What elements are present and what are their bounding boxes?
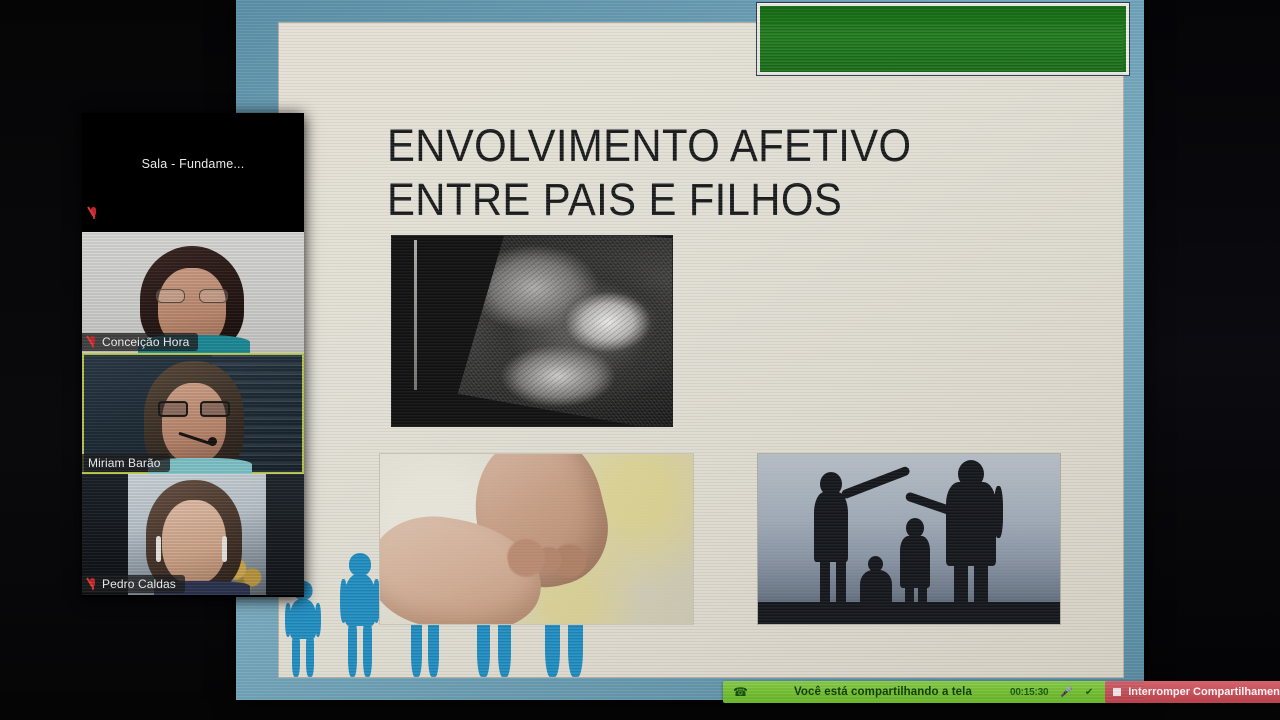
stop-sharing-label: Interromper Compartilhamento — [1128, 686, 1280, 698]
participant-tile-conceicao-hora[interactable]: Conceição Hora — [82, 232, 304, 353]
meeting-room-title: Sala - Fundame... — [82, 157, 304, 171]
holding-hands-photo — [379, 453, 694, 625]
share-timer: 00:15:30 — [1010, 687, 1048, 698]
stop-sharing-button[interactable]: Interromper Compartilhamento — [1105, 681, 1280, 703]
mic-muted-icon — [88, 578, 97, 591]
mic-muted-icon[interactable]: 🎤 — [1060, 687, 1072, 698]
figure-2 — [339, 553, 381, 677]
participant-name-tag: Miriam Barão — [82, 454, 170, 472]
participant-tile-miriam-barao[interactable]: Miriam Barão — [82, 353, 304, 474]
stop-square-icon — [1113, 688, 1121, 696]
screen-frame: ENVOLVIMENTO AFETIVO ENTRE PAIS E FILHOS — [236, 0, 1144, 700]
screen-share-bar[interactable]: ☎ Você está compartilhando a tela 00:15:… — [723, 681, 1275, 703]
shield-check-icon[interactable]: ✔ — [1085, 687, 1093, 698]
participant-name-tag: Pedro Caldas — [82, 575, 185, 593]
family-silhouette-photo — [757, 453, 1061, 625]
share-status-text: Você está compartilhando a tela — [794, 686, 972, 698]
ultrasound-photo — [391, 235, 673, 427]
phone-handset-icon: ☎ — [733, 686, 748, 698]
participant-name: Miriam Barão — [88, 456, 161, 470]
slide-title: ENVOLVIMENTO AFETIVO ENTRE PAIS E FILHOS — [387, 119, 1029, 227]
projected-screen-scene: ENVOLVIMENTO AFETIVO ENTRE PAIS E FILHOS — [0, 0, 1280, 720]
slide-green-banner — [757, 3, 1129, 75]
mic-muted-icon — [88, 336, 97, 349]
participant-name: Conceição Hora — [102, 335, 189, 349]
participant-tile-pedro-caldas[interactable]: Pedro Caldas — [82, 474, 304, 595]
panel-header: Sala - Fundame... — [82, 113, 304, 232]
mic-muted-icon[interactable] — [89, 207, 98, 220]
presentation-slide: ENVOLVIMENTO AFETIVO ENTRE PAIS E FILHOS — [278, 22, 1124, 678]
participant-name: Pedro Caldas — [102, 577, 176, 591]
participant-name-tag: Conceição Hora — [82, 333, 198, 351]
participant-panel: Sala - Fundame... Conceição Hora — [82, 113, 304, 597]
room-dark-right — [1140, 0, 1280, 720]
